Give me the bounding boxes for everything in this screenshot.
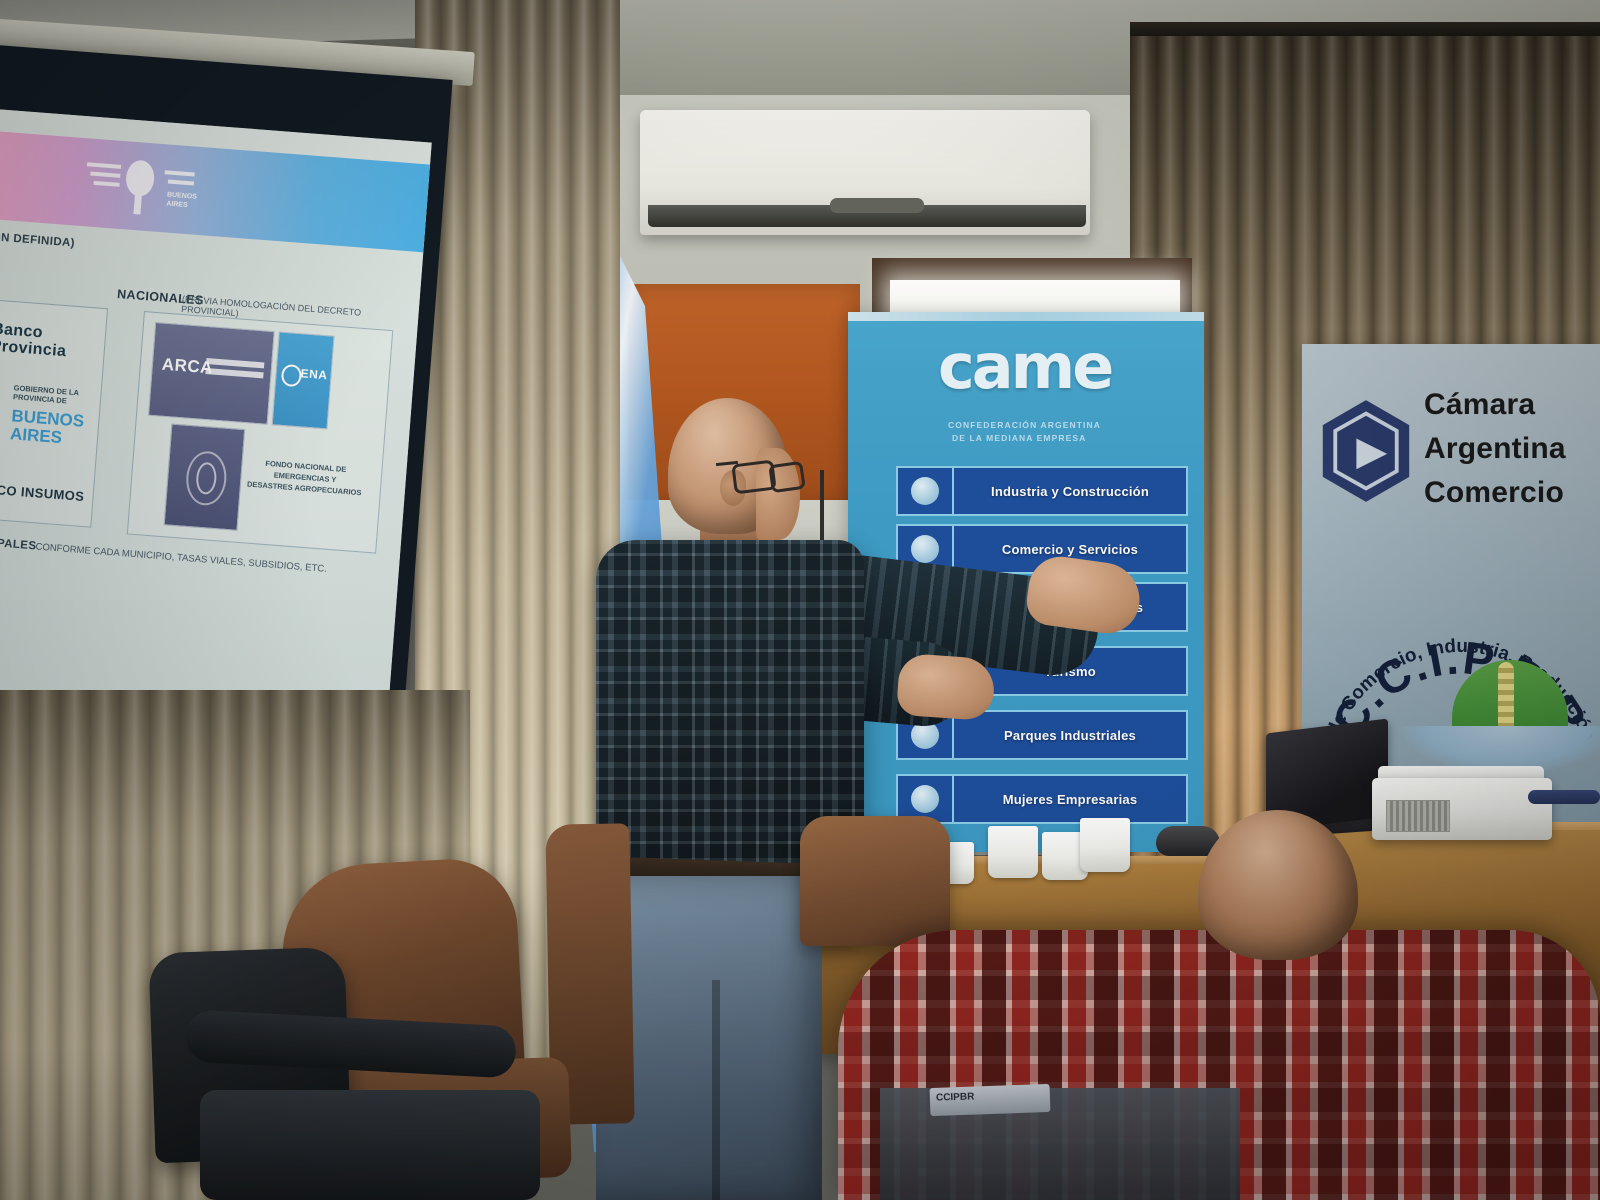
camara-hex-logo-icon — [1318, 398, 1414, 504]
conference-room-photo: came CONFEDERACIÓN ARGENTINA DE LA MEDIA… — [0, 0, 1600, 1200]
camara-line1: Cámara — [1424, 388, 1535, 422]
came-sector-row: Industria y Construcción — [896, 466, 1188, 516]
came-sector-label: Parques Industriales — [954, 728, 1186, 743]
svg-text:BUENOS: BUENOS — [167, 191, 198, 200]
came-logo: came — [938, 336, 1118, 414]
svg-text:AIRES: AIRES — [166, 200, 188, 209]
projector-vent — [1386, 800, 1450, 832]
glasses-lens-icon — [768, 461, 806, 493]
banco-provincia-text: Banco Provincia — [0, 321, 68, 360]
gba-big-text: BUENOS AIRES — [9, 407, 84, 448]
came-sector-label: Industria y Construcción — [954, 484, 1186, 499]
air-conditioner-display — [830, 198, 924, 213]
paper-cup — [988, 826, 1038, 878]
slide-top-gradient-bar — [0, 130, 430, 252]
came-sector-label: Mujeres Empresarias — [954, 792, 1186, 807]
curtain-rod — [1130, 22, 1600, 36]
sector-bullet-icon — [898, 468, 954, 514]
black-leather-chair-seat — [200, 1090, 540, 1200]
came-sector-row: Mujeres Empresarias — [896, 774, 1188, 824]
camara-line3: Comercio — [1424, 476, 1564, 510]
camara-line2: Argentina — [1424, 432, 1566, 466]
paper-cup — [1080, 818, 1130, 872]
projector-cable — [1528, 790, 1600, 804]
name-card-text: CCIPBR — [936, 1091, 975, 1103]
slide-declaracion-line: CLARACIÓN DEFINIDA) — [0, 227, 75, 250]
came-sector-label: Comercio y Servicios — [954, 542, 1186, 557]
presenter-jeans-seam — [712, 980, 720, 1200]
came-logo-text: came — [938, 330, 1111, 403]
buenos-aires-crest-icon: BUENOS AIRES — [81, 148, 216, 224]
ena-label: ENA — [300, 366, 328, 382]
came-tagline-line1: CONFEDERACIÓN ARGENTINA — [948, 420, 1101, 430]
slide-municipales-label: MUNICIPALES — [0, 534, 37, 552]
brown-armchair — [800, 816, 950, 946]
came-tagline-line2: DE LA MEDIANA EMPRESA — [952, 433, 1086, 443]
came-banner-top-rail — [848, 312, 1204, 321]
